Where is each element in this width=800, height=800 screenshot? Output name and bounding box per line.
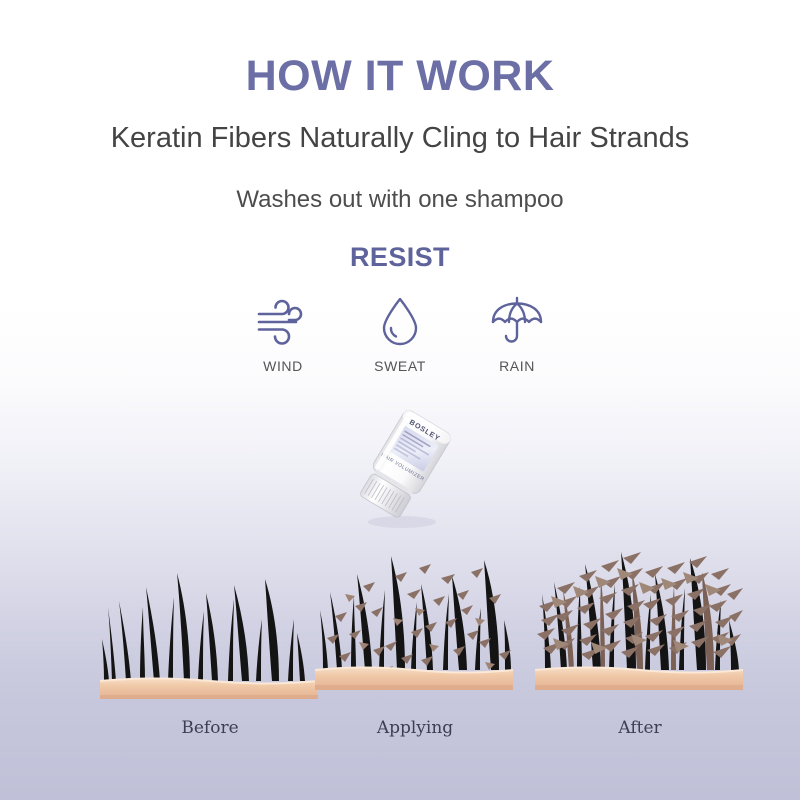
page-subtitle: Keratin Fibers Naturally Cling to Hair S… <box>0 122 800 155</box>
stage-applying-illustration <box>315 542 515 712</box>
resist-item-rain: RAIN <box>462 292 572 374</box>
stage-label-before: Before <box>100 718 320 738</box>
resist-label-sweat: SWEAT <box>374 358 426 374</box>
product-bottle: BOSLEY HAIR VOLUMIZER <box>336 408 466 533</box>
resist-item-sweat: SWEAT <box>345 292 455 374</box>
hair-strands-thick-icon <box>535 542 745 707</box>
water-drop-icon <box>378 292 422 350</box>
resist-label-rain: RAIN <box>499 358 535 374</box>
hair-fibers-falling-icon <box>315 542 515 707</box>
wind-icon <box>256 292 310 350</box>
stage-label-after: After <box>535 718 745 738</box>
page-title: HOW IT WORK <box>0 52 800 101</box>
resist-feature-row: WIND SWEAT RAI <box>228 292 572 374</box>
hair-strands-sparse-icon <box>100 557 320 707</box>
infographic-canvas: HOW IT WORK Keratin Fibers Naturally Cli… <box>0 0 800 800</box>
resist-item-wind: WIND <box>228 292 338 374</box>
resist-heading: RESIST <box>0 242 800 273</box>
stage-label-applying: Applying <box>315 718 515 738</box>
page-tagline: Washes out with one shampoo <box>0 186 800 214</box>
shaker-bottle-icon: BOSLEY HAIR VOLUMIZER <box>336 408 466 533</box>
stage-before-illustration <box>100 557 320 712</box>
stage-after-illustration <box>535 542 745 712</box>
resist-label-wind: WIND <box>263 358 303 374</box>
umbrella-icon <box>490 292 544 350</box>
